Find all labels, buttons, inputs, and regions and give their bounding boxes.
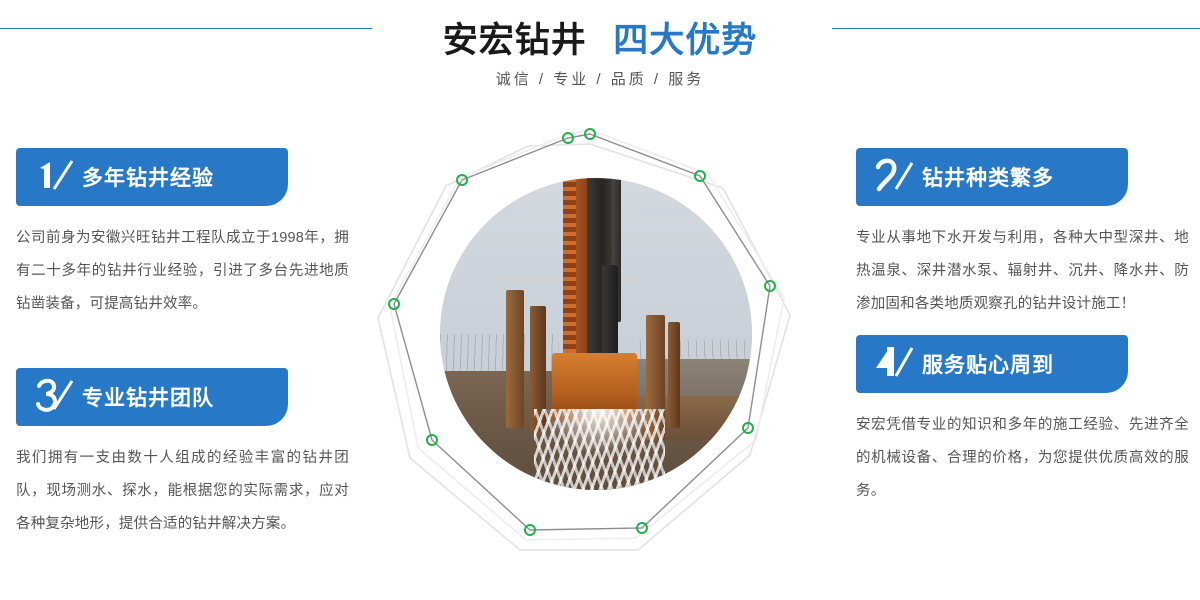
feature-badge-1[interactable]: 多年钻井经验: [16, 148, 288, 206]
page-header: 安宏钻井 四大优势 诚信 / 专业 / 品质 / 服务: [0, 0, 1200, 110]
feature-card-4: 服务贴心周到 安宏凭借专业的知识和多年的施工经验、先进齐全的机械设备、合理的价格…: [856, 335, 1196, 508]
center-graphic: [370, 110, 810, 580]
feature-title-4: 服务贴心周到: [922, 349, 1054, 379]
drilling-rig-photo: [440, 178, 752, 490]
feature-badge-3[interactable]: 专业钻井团队: [16, 368, 288, 426]
feature-body-4: 安宏凭借专业的知识和多年的施工经验、先进齐全的机械设备、合理的价格，为您提供优质…: [856, 409, 1189, 508]
title-accent: 四大优势: [613, 21, 757, 60]
feature-card-1: 多年钻井经验 公司前身为安徽兴旺钻井工程队成立于1998年，拥有二十多年的钻井行…: [16, 148, 356, 321]
title-company: 安宏钻井: [443, 21, 587, 60]
feature-badge-4[interactable]: 服务贴心周到: [856, 335, 1128, 393]
page-subtitle: 诚信 / 专业 / 品质 / 服务: [0, 68, 1200, 89]
feature-card-3: 专业钻井团队 我们拥有一支由数十人组成的经验丰富的钻井团队，现场测水、探水，能根…: [16, 368, 356, 541]
page-title: 安宏钻井 四大优势: [0, 12, 1200, 63]
feature-column-left: 多年钻井经验 公司前身为安徽兴旺钻井工程队成立于1998年，拥有二十多年的钻井行…: [16, 148, 356, 541]
feature-title-2: 钻井种类繁多: [922, 162, 1054, 192]
feature-body-3: 我们拥有一支由数十人组成的经验丰富的钻井团队，现场测水、探水，能根据您的实际需求…: [16, 442, 349, 541]
promo-page: 安宏钻井 四大优势 诚信 / 专业 / 品质 / 服务 多年钻井经验 公司前身为…: [0, 0, 1200, 600]
photo-rig-leg-a: [506, 290, 525, 427]
feature-body-1: 公司前身为安徽兴旺钻井工程队成立于1998年，拥有二十多年的钻井行业经验，引进了…: [16, 222, 349, 321]
number-two-icon: [874, 155, 920, 199]
feature-card-2: 钻井种类繁多 专业从事地下水开发与利用，各种大中型深井、地热温泉、深井潜水泵、辐…: [856, 148, 1196, 321]
number-one-icon: [34, 155, 80, 199]
feature-column-right: 钻井种类繁多 专业从事地下水开发与利用，各种大中型深井、地热温泉、深井潜水泵、辐…: [856, 148, 1196, 508]
feature-title-1: 多年钻井经验: [82, 162, 214, 192]
feature-title-3: 专业钻井团队: [82, 382, 214, 412]
number-three-icon: [34, 375, 80, 419]
feature-badge-2[interactable]: 钻井种类繁多: [856, 148, 1128, 206]
photo-water-gush: [534, 409, 665, 490]
number-four-icon: [874, 342, 920, 386]
photo-rig-leg-d: [668, 322, 680, 428]
feature-body-2: 专业从事地下水开发与利用，各种大中型深井、地热温泉、深井潜水泵、辐射井、沉井、降…: [856, 222, 1189, 321]
